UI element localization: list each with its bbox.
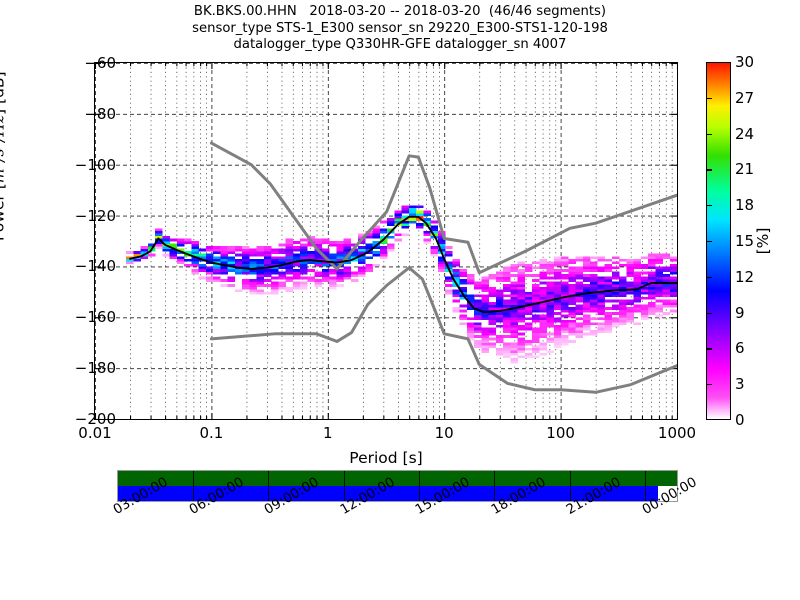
colorbar-tick-label: 18: [735, 196, 754, 214]
timeline-divider: [494, 471, 495, 501]
timeline-divider: [344, 471, 345, 501]
colorbar-tick-mark: [706, 169, 712, 170]
x-tick-label: 0.01: [78, 424, 111, 442]
timeline-divider: [645, 471, 646, 501]
colorbar-tick-label: 21: [735, 160, 754, 178]
x-axis-label: Period [s]: [94, 449, 678, 467]
x-tick-label: 0.1: [199, 424, 223, 442]
colorbar-tick-mark: [706, 241, 712, 242]
timeline-segment[interactable]: [118, 471, 677, 486]
timeline-divider: [419, 471, 420, 501]
colorbar-label: [%]: [754, 228, 772, 255]
y-axis-label: Power [m2/s4/Hz] [dB]: [0, 71, 8, 241]
y-tick-label: −80: [84, 105, 116, 123]
title-line-datalogger: datalogger_type Q330HR-GFE datalogger_sn…: [0, 37, 800, 54]
timeline-divider: [570, 471, 571, 501]
ppsd-plot-canvas: [95, 63, 677, 419]
colorbar-tick-label: 30: [735, 53, 754, 71]
x-tick-label: 100: [546, 424, 575, 442]
title-line-station: BK.BKS.00.HHN 2018-03-20 -- 2018-03-20 (…: [0, 4, 800, 21]
colorbar-tick-label: 27: [735, 89, 754, 107]
colorbar-tick-mark: [706, 384, 712, 385]
timeline-divider: [193, 471, 194, 501]
colorbar-tick-label: 12: [735, 268, 754, 286]
ppsd-figure: BK.BKS.00.HHN 2018-03-20 -- 2018-03-20 (…: [0, 0, 800, 600]
x-tick-label: 10: [435, 424, 454, 442]
x-tick-label: 1: [323, 424, 333, 442]
y-tick-label: −60: [84, 54, 116, 72]
colorbar-tick-label: 6: [735, 339, 745, 357]
colorbar-tick-label: 9: [735, 304, 745, 322]
colorbar-tick-label: 15: [735, 232, 754, 250]
figure-title: BK.BKS.00.HHN 2018-03-20 -- 2018-03-20 (…: [0, 4, 800, 54]
colorbar-tick-mark: [706, 277, 712, 278]
y-tick-label: −120: [75, 207, 116, 225]
colorbar-tick-label: 3: [735, 375, 745, 393]
y-tick-label: −140: [75, 257, 116, 275]
x-tick-label: 1000: [658, 424, 696, 442]
colorbar-tick-mark: [706, 205, 712, 206]
ppsd-axes[interactable]: [94, 62, 678, 420]
colorbar-tick-label: 24: [735, 125, 754, 143]
y-tick-label: −160: [75, 308, 116, 326]
y-tick-label: −180: [75, 359, 116, 377]
colorbar-tick-mark: [706, 313, 712, 314]
timeline-divider: [268, 471, 269, 501]
colorbar-tick-mark: [706, 134, 712, 135]
ppsd-histogram: [126, 205, 677, 363]
title-line-sensor: sensor_type STS-1_E300 sensor_sn 29220_E…: [0, 21, 800, 38]
colorbar-tick-mark: [706, 348, 712, 349]
timeline-row-data-coverage[interactable]: [118, 471, 677, 486]
colorbar-tick-label: 0: [735, 411, 745, 429]
y-tick-label: −100: [75, 156, 116, 174]
colorbar-tick-mark: [706, 98, 712, 99]
